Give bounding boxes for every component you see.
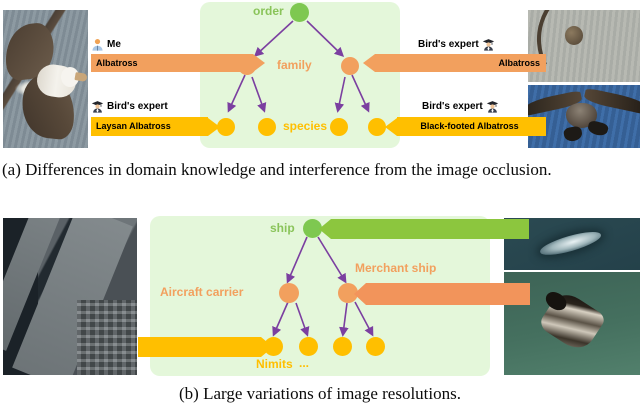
source-arrow-ship[interactable] xyxy=(319,219,529,239)
source-arrow-nimits[interactable] xyxy=(138,337,273,357)
caption-panel-b: (b) Large variations of image resolution… xyxy=(0,384,640,404)
ellipsis-node-label: ... xyxy=(299,356,309,370)
source-arrow-merchant-ship[interactable] xyxy=(354,283,530,305)
instance-node-2[interactable] xyxy=(299,337,318,356)
ship-node-label: ship xyxy=(270,221,295,235)
panel-b-edges xyxy=(0,0,640,409)
instance-node-4[interactable] xyxy=(366,337,385,356)
merchant-ship-node-label: Merchant ship xyxy=(355,261,436,275)
nimits-node-label: Nimits xyxy=(256,357,293,371)
figure-root: order family species Me Albatross Bird's… xyxy=(0,0,640,409)
instance-node-3[interactable] xyxy=(333,337,352,356)
aircraft-carrier-node-label: Aircraft carrier xyxy=(160,285,243,299)
aircraft-carrier-node[interactable] xyxy=(279,283,299,303)
